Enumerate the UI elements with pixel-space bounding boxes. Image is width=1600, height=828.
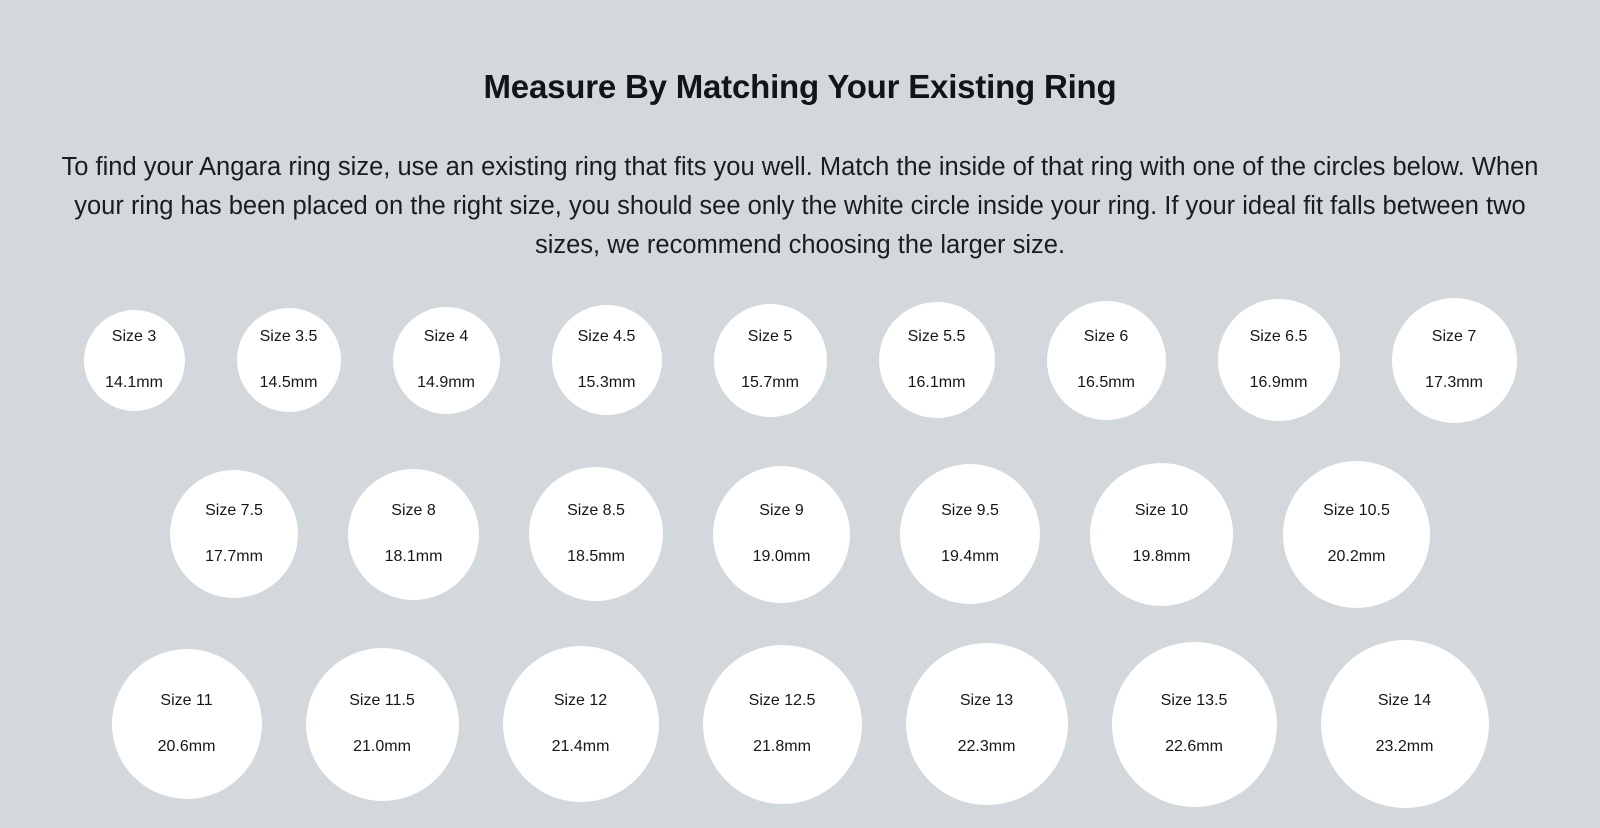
ring-size-circle[interactable]: Size 1423.2mm <box>1321 640 1489 808</box>
ring-size-label: Size 5.5 <box>908 329 966 345</box>
ring-size-label: Size 3.5 <box>260 329 318 345</box>
ring-diameter-label: 18.1mm <box>385 549 443 565</box>
ring-size-label: Size 10 <box>1135 503 1188 519</box>
ring-circle-rows: Size 314.1mmSize 3.514.5mmSize 414.9mmSi… <box>0 276 1600 824</box>
ring-diameter-label: 16.9mm <box>1250 375 1308 391</box>
ring-size-label: Size 11 <box>160 693 212 709</box>
ring-size-circle[interactable]: Size 6.516.9mm <box>1218 299 1340 421</box>
ring-size-label: Size 11.5 <box>349 693 415 709</box>
ring-size-label: Size 6 <box>1084 329 1128 345</box>
ring-size-circle[interactable]: Size 1120.6mm <box>112 649 262 799</box>
ring-size-chart-page: Measure By Matching Your Existing Ring T… <box>0 0 1600 828</box>
ring-diameter-label: 17.7mm <box>205 549 263 565</box>
ring-size-label: Size 8.5 <box>567 503 625 519</box>
ring-diameter-label: 14.1mm <box>105 375 163 391</box>
ring-row: Size 7.517.7mmSize 818.1mmSize 8.518.5mm… <box>0 444 1600 624</box>
ring-size-circle[interactable]: Size 8.518.5mm <box>529 467 663 601</box>
ring-size-circle[interactable]: Size 3.514.5mm <box>237 308 341 412</box>
ring-size-circle[interactable]: Size 1019.8mm <box>1090 463 1233 606</box>
ring-size-label: Size 12.5 <box>749 693 816 709</box>
ring-size-circle[interactable]: Size 7.517.7mm <box>170 470 298 598</box>
ring-size-circle[interactable]: Size 12.521.8mm <box>703 645 862 804</box>
ring-size-label: Size 9 <box>759 503 803 519</box>
ring-size-label: Size 13.5 <box>1161 693 1228 709</box>
ring-size-label: Size 7.5 <box>205 503 263 519</box>
ring-diameter-label: 14.9mm <box>417 375 475 391</box>
ring-row-inner: Size 314.1mmSize 3.514.5mmSize 414.9mmSi… <box>0 276 1600 444</box>
ring-row-inner: Size 1120.6mmSize 11.521.0mmSize 1221.4m… <box>0 624 1600 824</box>
ring-size-circle[interactable]: Size 10.520.2mm <box>1283 461 1430 608</box>
ring-size-circle[interactable]: Size 919.0mm <box>713 466 850 603</box>
ring-diameter-label: 15.7mm <box>741 375 799 391</box>
ring-size-label: Size 3 <box>112 329 156 345</box>
ring-size-circle[interactable]: Size 414.9mm <box>393 307 500 414</box>
ring-diameter-label: 19.0mm <box>753 549 811 565</box>
ring-size-circle[interactable]: Size 9.519.4mm <box>900 464 1040 604</box>
ring-size-label: Size 14 <box>1378 693 1431 709</box>
ring-row: Size 1120.6mmSize 11.521.0mmSize 1221.4m… <box>0 624 1600 824</box>
ring-diameter-label: 20.2mm <box>1328 549 1386 565</box>
ring-size-label: Size 6.5 <box>1250 329 1308 345</box>
ring-diameter-label: 17.3mm <box>1425 375 1483 391</box>
ring-row-inner: Size 7.517.7mmSize 818.1mmSize 8.518.5mm… <box>0 444 1600 624</box>
ring-diameter-label: 14.5mm <box>260 375 318 391</box>
ring-size-circle[interactable]: Size 515.7mm <box>714 304 827 417</box>
ring-diameter-label: 19.4mm <box>941 549 999 565</box>
page-title: Measure By Matching Your Existing Ring <box>0 68 1600 106</box>
ring-diameter-label: 15.3mm <box>578 375 636 391</box>
ring-size-circle[interactable]: Size 717.3mm <box>1392 298 1517 423</box>
ring-row: Size 314.1mmSize 3.514.5mmSize 414.9mmSi… <box>0 276 1600 444</box>
ring-diameter-label: 18.5mm <box>567 549 625 565</box>
ring-diameter-label: 21.0mm <box>353 739 411 755</box>
ring-diameter-label: 16.1mm <box>908 375 966 391</box>
ring-size-label: Size 5 <box>748 329 792 345</box>
ring-diameter-label: 21.8mm <box>753 739 811 755</box>
ring-size-circle[interactable]: Size 314.1mm <box>84 310 185 411</box>
ring-size-label: Size 10.5 <box>1323 503 1390 519</box>
ring-diameter-label: 16.5mm <box>1077 375 1135 391</box>
ring-size-circle[interactable]: Size 616.5mm <box>1047 301 1166 420</box>
ring-size-circle[interactable]: Size 1221.4mm <box>503 646 659 802</box>
ring-size-circle[interactable]: Size 13.522.6mm <box>1112 642 1277 807</box>
ring-size-label: Size 4 <box>424 329 468 345</box>
ring-size-circle[interactable]: Size 818.1mm <box>348 469 479 600</box>
ring-size-label: Size 8 <box>391 503 435 519</box>
instructions-paragraph: To find your Angara ring size, use an ex… <box>45 148 1555 265</box>
ring-diameter-label: 19.8mm <box>1133 549 1191 565</box>
ring-size-label: Size 7 <box>1432 329 1476 345</box>
ring-diameter-label: 22.3mm <box>958 739 1016 755</box>
ring-size-label: Size 12 <box>554 693 607 709</box>
ring-size-label: Size 13 <box>960 693 1013 709</box>
ring-diameter-label: 21.4mm <box>552 739 610 755</box>
ring-size-circle[interactable]: Size 5.516.1mm <box>879 302 995 418</box>
ring-diameter-label: 23.2mm <box>1376 739 1434 755</box>
ring-size-circle[interactable]: Size 4.515.3mm <box>552 305 662 415</box>
ring-size-circle[interactable]: Size 1322.3mm <box>906 643 1068 805</box>
ring-size-label: Size 4.5 <box>578 329 636 345</box>
ring-size-circle[interactable]: Size 11.521.0mm <box>306 648 459 801</box>
ring-size-label: Size 9.5 <box>941 503 999 519</box>
ring-diameter-label: 22.6mm <box>1165 739 1223 755</box>
ring-diameter-label: 20.6mm <box>158 739 216 755</box>
